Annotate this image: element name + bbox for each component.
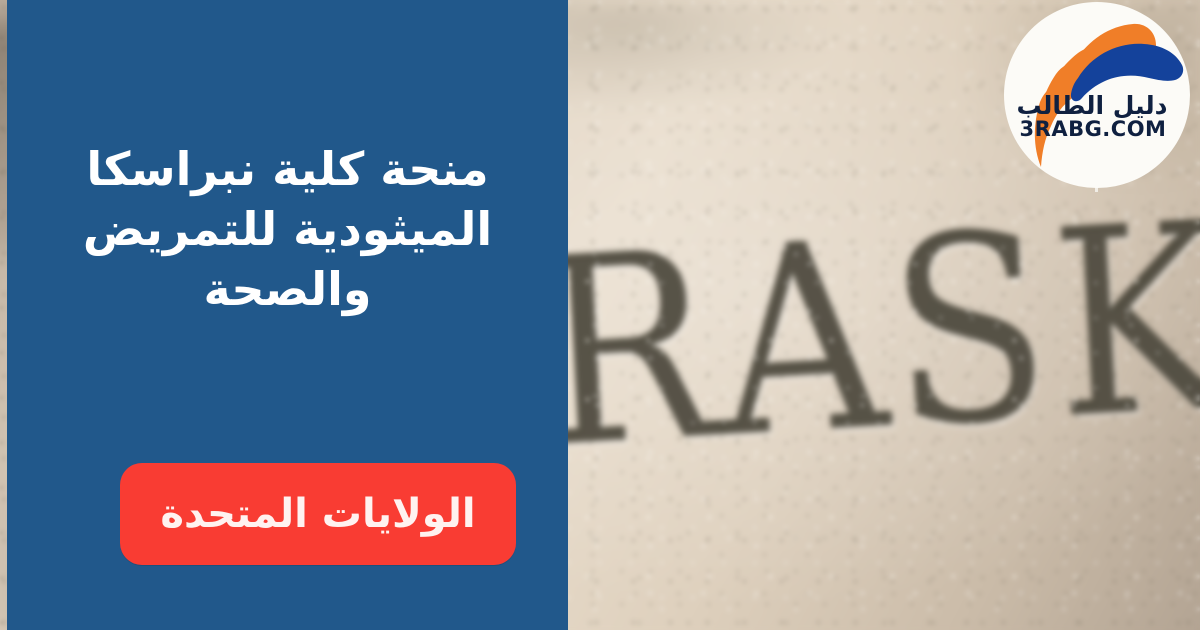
- logo-arabic-name: دليل الطالب: [1004, 91, 1180, 120]
- title-line-3: والصحة: [203, 262, 371, 316]
- title-line-1: منحة كلية نبراسكا: [86, 142, 488, 196]
- country-badge-button[interactable]: الولايات المتحدة: [120, 463, 516, 565]
- promo-card: RASKA منحة كلية نبراسكا الميثودية للتمري…: [0, 0, 1200, 630]
- page-title: منحة كلية نبراسكا الميثودية للتمريض والص…: [7, 140, 568, 319]
- logo-domain-text: 3RABG.COM: [1004, 117, 1182, 141]
- site-logo-badge[interactable]: دليل الطالب 3RABG.COM: [1004, 2, 1190, 188]
- blue-content-panel: منحة كلية نبراسكا الميثودية للتمريض والص…: [7, 0, 568, 630]
- title-line-2: الميثودية للتمريض: [83, 202, 492, 256]
